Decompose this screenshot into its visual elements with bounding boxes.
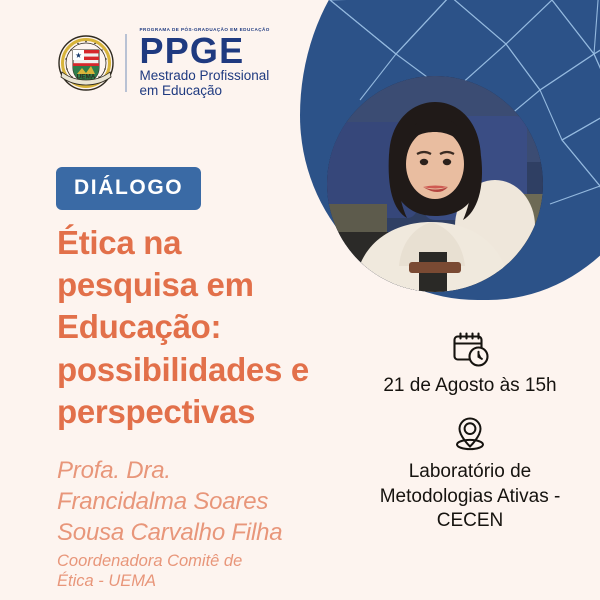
logo-acronym: PPGE	[140, 35, 270, 67]
title-line-4: possibilidades e	[57, 349, 357, 391]
location-pin-icon	[451, 414, 489, 454]
logo-subtitle-line2: em Educação	[140, 83, 270, 98]
title-line-3: Educação:	[57, 306, 357, 348]
speaker-block: Profa. Dra. Francidalma Soares Sousa Car…	[57, 455, 357, 592]
event-datetime-text: 21 de Agosto às 15h	[350, 374, 590, 398]
calendar-clock-icon	[450, 328, 490, 368]
title-line-5: perspectivas	[57, 391, 357, 433]
speaker-portrait-illustration	[327, 76, 543, 292]
speaker-name-line1: Profa. Dra.	[57, 455, 357, 486]
speaker-role-line1: Coordenadora Comitê de	[57, 551, 357, 572]
logo-subtitle-line1: Mestrado Profissional	[140, 68, 270, 83]
speaker-name: Profa. Dra. Francidalma Soares Sousa Car…	[57, 455, 357, 549]
dialogo-badge: DIÁLOGO	[56, 167, 201, 210]
ppge-logo-lockup: UEMA PROGRAMA DE PÓS-GRADUAÇÃO EM EDUCAÇ…	[57, 28, 270, 98]
event-info-column: 21 de Agosto às 15h Laboratório de Metod…	[350, 328, 590, 533]
speaker-name-line3: Sousa Carvalho Filha	[57, 517, 357, 548]
event-location-text: Laboratório de Metodologias Ativas - CEC…	[350, 460, 590, 533]
uema-crest-icon: UEMA	[57, 30, 115, 96]
event-datetime-block: 21 de Agosto às 15h	[350, 328, 590, 398]
event-poster: UEMA PROGRAMA DE PÓS-GRADUAÇÃO EM EDUCAÇ…	[0, 0, 600, 600]
speaker-role-line2: Ética - UEMA	[57, 571, 357, 592]
title-line-2: pesquisa em	[57, 264, 357, 306]
title-line-1: Ética na	[57, 222, 357, 264]
page-title: Ética na pesquisa em Educação: possibili…	[57, 222, 357, 433]
speaker-role: Coordenadora Comitê de Ética - UEMA	[57, 551, 357, 592]
svg-text:UEMA: UEMA	[77, 74, 96, 81]
logo-divider	[125, 34, 127, 92]
speaker-photo	[327, 76, 543, 292]
speaker-name-line2: Francidalma Soares	[57, 486, 357, 517]
event-location-block: Laboratório de Metodologias Ativas - CEC…	[350, 414, 590, 533]
